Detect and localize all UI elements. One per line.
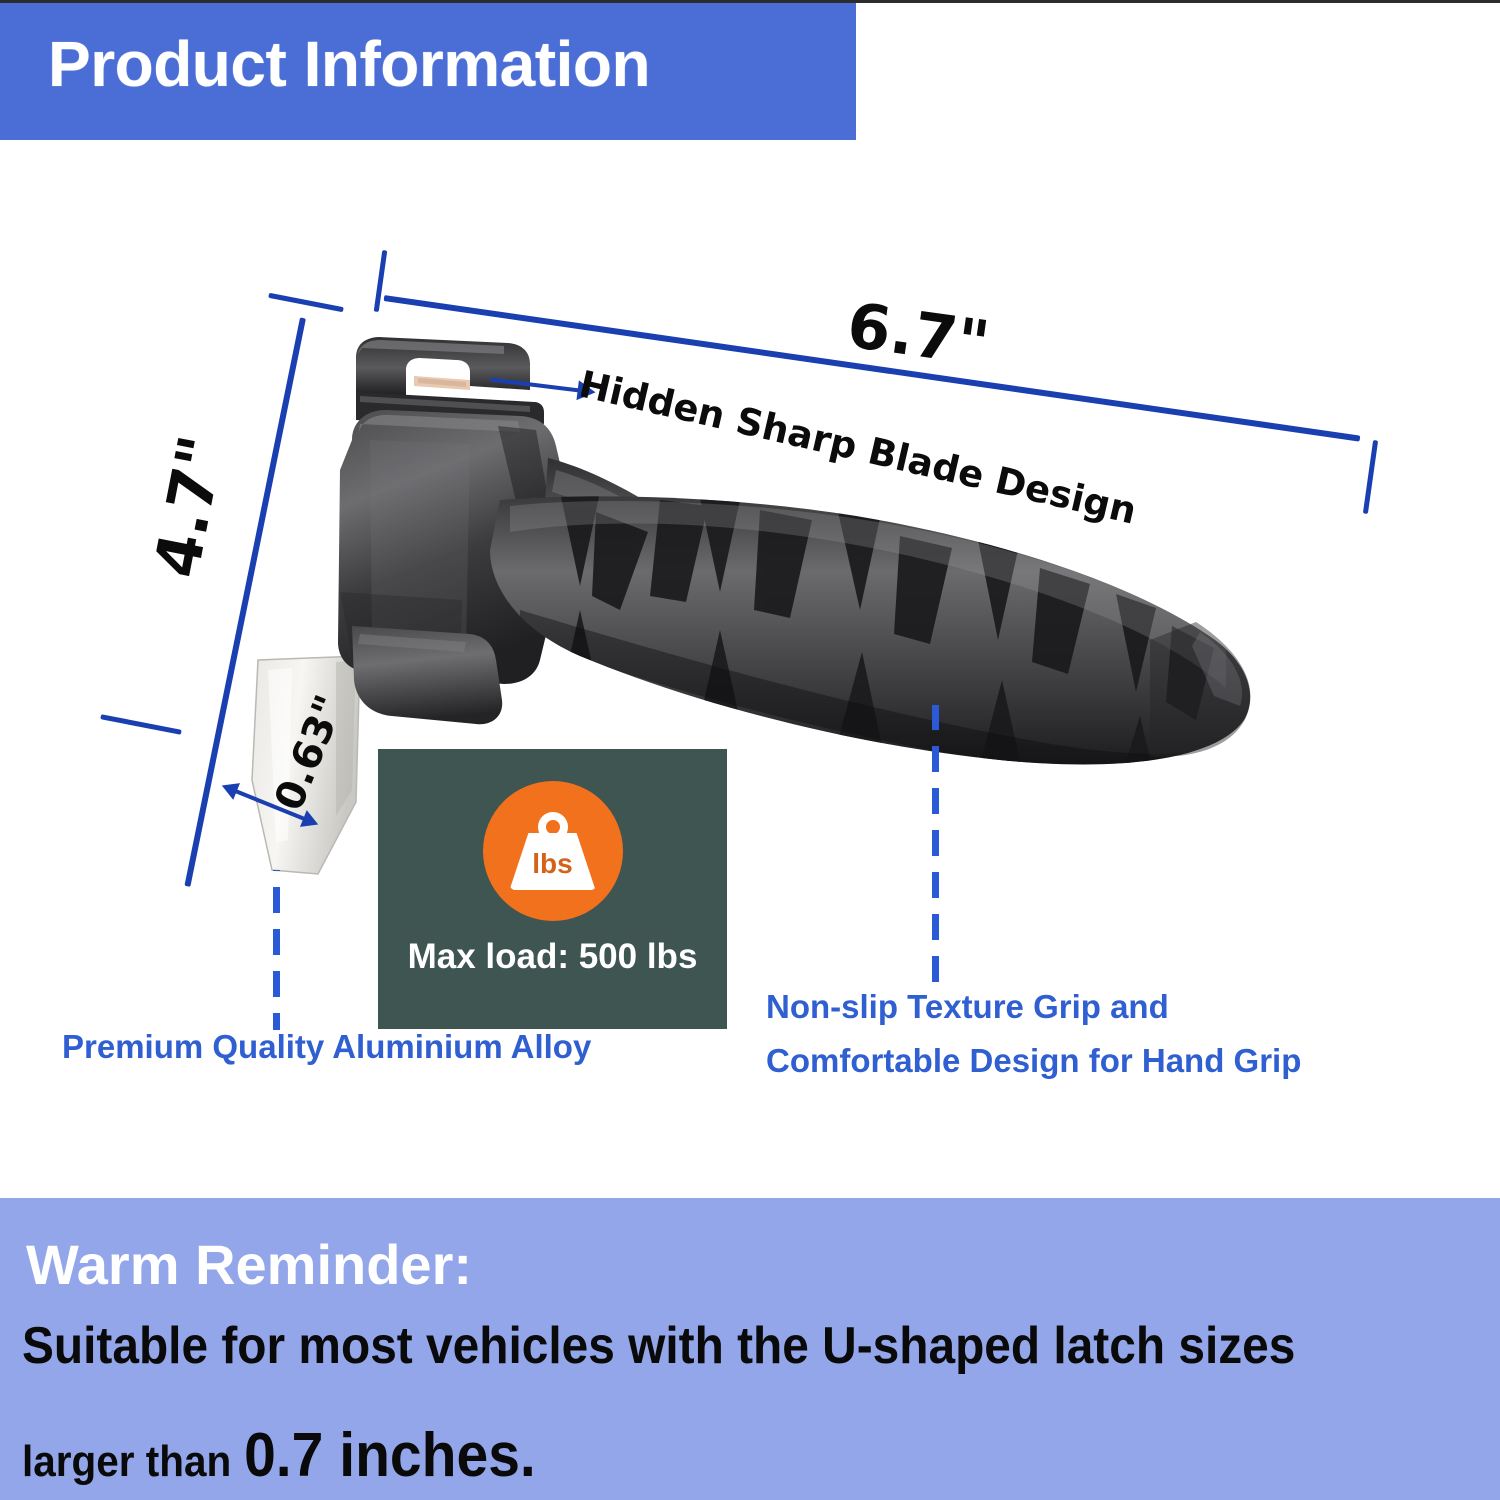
product-information-infographic: Product Information — [0, 0, 1500, 1500]
hammer-lower-hook — [352, 626, 502, 724]
illustration-canvas: 6.7" 4.7" 0.63" Hidden Sharp Blade Desig… — [0, 140, 1500, 1198]
warm-reminder-line-2-prefix: larger than — [22, 1437, 231, 1487]
warm-reminder-title: Warm Reminder: — [26, 1232, 472, 1297]
warm-reminder-line-1: Suitable for most vehicles with the U-sh… — [22, 1316, 1295, 1376]
header-band: Product Information — [0, 3, 856, 140]
weight-icon-circle: lbs — [483, 781, 623, 921]
warm-reminder-line-2: larger than 0.7 inches. — [22, 1420, 536, 1491]
grip-caption-line-1: Non-slip Texture Grip and — [766, 980, 1301, 1034]
page-title: Product Information — [48, 27, 650, 101]
max-load-badge: lbs Max load: 500 lbs — [378, 749, 727, 1029]
grip-callout-dashed-line — [932, 705, 939, 997]
weight-icon-body: lbs — [510, 833, 596, 890]
grip-caption-line-2: Comfortable Design for Hand Grip — [766, 1034, 1301, 1088]
warm-reminder-latch-size: 0.7 inches. — [244, 1420, 536, 1491]
warm-reminder-band: Warm Reminder: Suitable for most vehicle… — [0, 1198, 1500, 1500]
weight-icon: lbs — [510, 812, 596, 890]
grip-caption: Non-slip Texture Grip and Comfortable De… — [766, 980, 1301, 1088]
weight-icon-lbs-label: lbs — [532, 844, 572, 880]
max-load-text: Max load: 500 lbs — [378, 937, 727, 977]
aluminium-callout-dashed-line — [273, 870, 280, 1030]
